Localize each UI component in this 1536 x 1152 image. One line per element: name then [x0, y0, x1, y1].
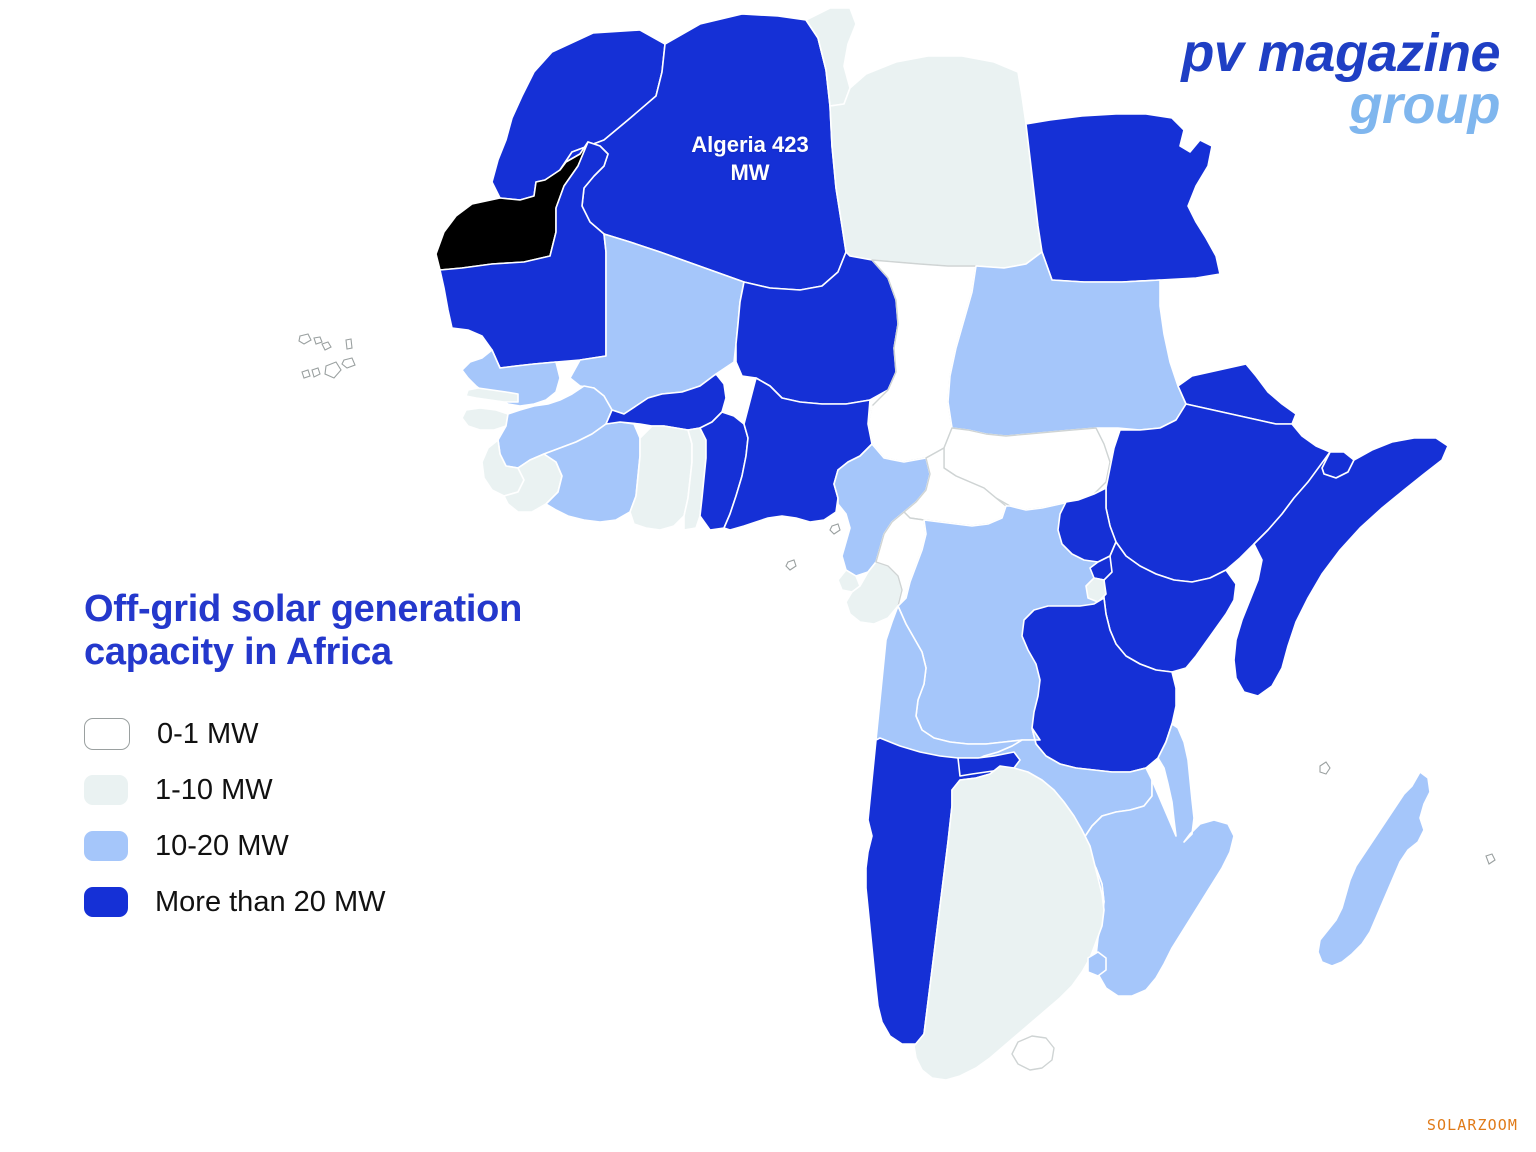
country-ghana [630, 426, 692, 530]
country-libya [830, 56, 1042, 268]
country-lesotho [1012, 1036, 1054, 1070]
island-sao-tome [786, 560, 796, 570]
legend-swatch-0-1mw [84, 718, 130, 750]
legend-label-1-10mw: 1-10 MW [155, 774, 273, 807]
legend-item-0-1mw: 0-1 MW [84, 709, 522, 759]
legend-swatch-10-20mw [84, 831, 128, 861]
legend-label-more-than-20mw: More than 20 MW [155, 886, 385, 919]
legend-label-10-20mw: 10-20 MW [155, 830, 289, 863]
island-group-cape-verde [299, 334, 355, 378]
country-guinea-bissau [462, 408, 508, 430]
brand-logo-line2: group [1181, 82, 1500, 130]
island-comoros [1320, 762, 1330, 774]
legend-title: Off-grid solar generation capacity in Af… [84, 588, 522, 673]
legend-panel: Off-grid solar generation capacity in Af… [84, 588, 522, 933]
island-bioko [830, 524, 840, 534]
legend-item-more-than-20mw: More than 20 MW [84, 877, 522, 927]
source-watermark: SOLARZOOM [1427, 1116, 1518, 1134]
algeria-value-label: Algeria 423 MW [676, 131, 824, 187]
legend-item-1-10mw: 1-10 MW [84, 765, 522, 815]
country-madagascar [1318, 772, 1430, 966]
legend-swatch-1-10mw [84, 775, 128, 805]
legend-label-0-1mw: 0-1 MW [157, 718, 259, 751]
brand-logo-line1: pv magazine [1181, 30, 1500, 78]
country-egypt [1026, 114, 1220, 282]
country-eswatini [1088, 952, 1106, 976]
brand-logo: pv magazine group [1181, 30, 1500, 129]
legend-swatch-more-than-20mw [84, 887, 128, 917]
legend-item-10-20mw: 10-20 MW [84, 821, 522, 871]
island-mauritius [1486, 854, 1495, 864]
